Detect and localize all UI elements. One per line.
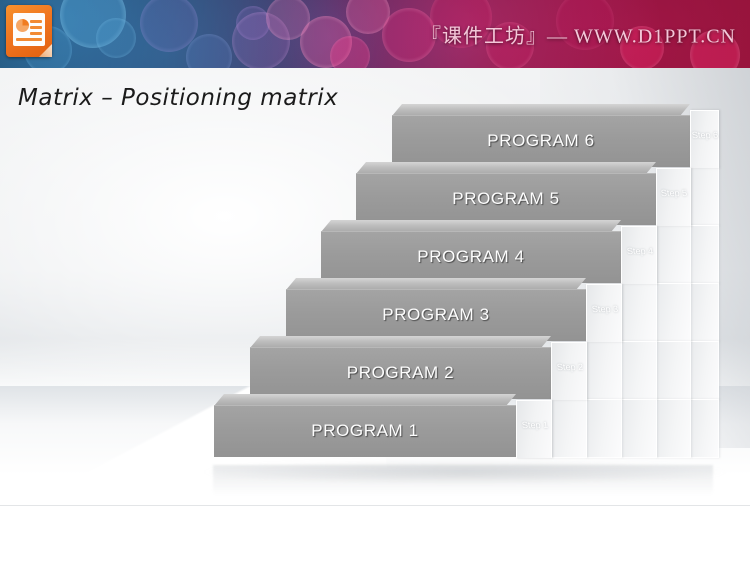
step-3-front-face: PROGRAM 3 bbox=[286, 289, 586, 341]
side-panel-cell bbox=[690, 399, 719, 458]
slide-body: Matrix – Positioning matrix bbox=[0, 68, 750, 505]
step-3-label: PROGRAM 3 bbox=[286, 305, 586, 325]
step-2-label: PROGRAM 2 bbox=[250, 363, 551, 383]
side-panel-cell bbox=[690, 341, 719, 400]
bokeh-circle bbox=[266, 0, 310, 40]
step-1-front-face: PROGRAM 1 bbox=[214, 405, 516, 457]
bokeh-circle bbox=[330, 36, 370, 68]
side-panel-cell bbox=[586, 399, 622, 458]
side-panel-cell bbox=[690, 225, 719, 284]
step-5-side-face: Step 5 bbox=[656, 168, 691, 226]
side-panel-cell bbox=[690, 283, 719, 342]
staircase-reflection bbox=[213, 465, 713, 499]
footer: 课件工坊 HTTP://WWW.D1PPT.CN bbox=[0, 505, 750, 563]
side-panel-cell bbox=[656, 283, 691, 342]
step-3-side-face: Step 3 bbox=[586, 284, 622, 342]
step-4-side-face: Step 4 bbox=[621, 226, 657, 284]
step-6-side-label: Step 6 bbox=[691, 130, 718, 140]
bokeh-circle bbox=[346, 0, 390, 34]
side-panel-cell bbox=[656, 225, 691, 284]
step-5-label: PROGRAM 5 bbox=[356, 189, 656, 209]
bokeh-circle bbox=[96, 18, 136, 58]
powerpoint-logo-icon bbox=[6, 5, 52, 57]
step-1-label: PROGRAM 1 bbox=[214, 421, 516, 441]
step-6-label: PROGRAM 6 bbox=[392, 131, 690, 151]
top-banner: 『课件工坊』— WWW.D1PPT.CN bbox=[0, 0, 750, 68]
step-5-front-face: PROGRAM 5 bbox=[356, 173, 656, 225]
step-4-label: PROGRAM 4 bbox=[321, 247, 621, 267]
bokeh-circle bbox=[236, 6, 270, 40]
step-4-front-face: PROGRAM 4 bbox=[321, 231, 621, 283]
step-6-front-face: PROGRAM 6 bbox=[392, 115, 690, 167]
step-1-side-label: Step 1 bbox=[521, 420, 548, 430]
step-4-side-label: Step 4 bbox=[626, 246, 653, 256]
slide-canvas: 『课件工坊』— WWW.D1PPT.CN Matrix – Positionin… bbox=[0, 0, 750, 563]
bokeh-circle bbox=[60, 0, 126, 48]
bokeh-circle bbox=[140, 0, 198, 52]
step-6-side-face: Step 6 bbox=[690, 110, 719, 168]
bokeh-circle bbox=[186, 34, 232, 68]
side-panel-cell bbox=[586, 341, 622, 400]
side-panel-cell bbox=[551, 399, 587, 458]
bokeh-circle bbox=[300, 16, 352, 68]
side-panel-cell bbox=[621, 283, 657, 342]
side-panel-cell bbox=[656, 341, 691, 400]
side-panel-cell bbox=[690, 167, 719, 226]
footer-divider bbox=[0, 505, 750, 506]
step-1-side-face: Step 1 bbox=[516, 400, 552, 458]
step-2-side-label: Step 2 bbox=[556, 362, 583, 372]
step-5-side-label: Step 5 bbox=[660, 188, 687, 198]
step-3-side-label: Step 3 bbox=[591, 304, 618, 314]
step-2-front-face: PROGRAM 2 bbox=[250, 347, 551, 399]
step-2-side-face: Step 2 bbox=[551, 342, 587, 400]
side-panel-cell bbox=[656, 399, 691, 458]
staircase-diagram: PROGRAM 6 Step 6 PROGRAM 5 Step 5 bbox=[0, 68, 750, 505]
banner-title: 『课件工坊』— WWW.D1PPT.CN bbox=[421, 20, 736, 49]
bokeh-circle bbox=[232, 12, 290, 68]
side-panel-cell bbox=[621, 341, 657, 400]
side-panel-cell bbox=[621, 399, 657, 458]
